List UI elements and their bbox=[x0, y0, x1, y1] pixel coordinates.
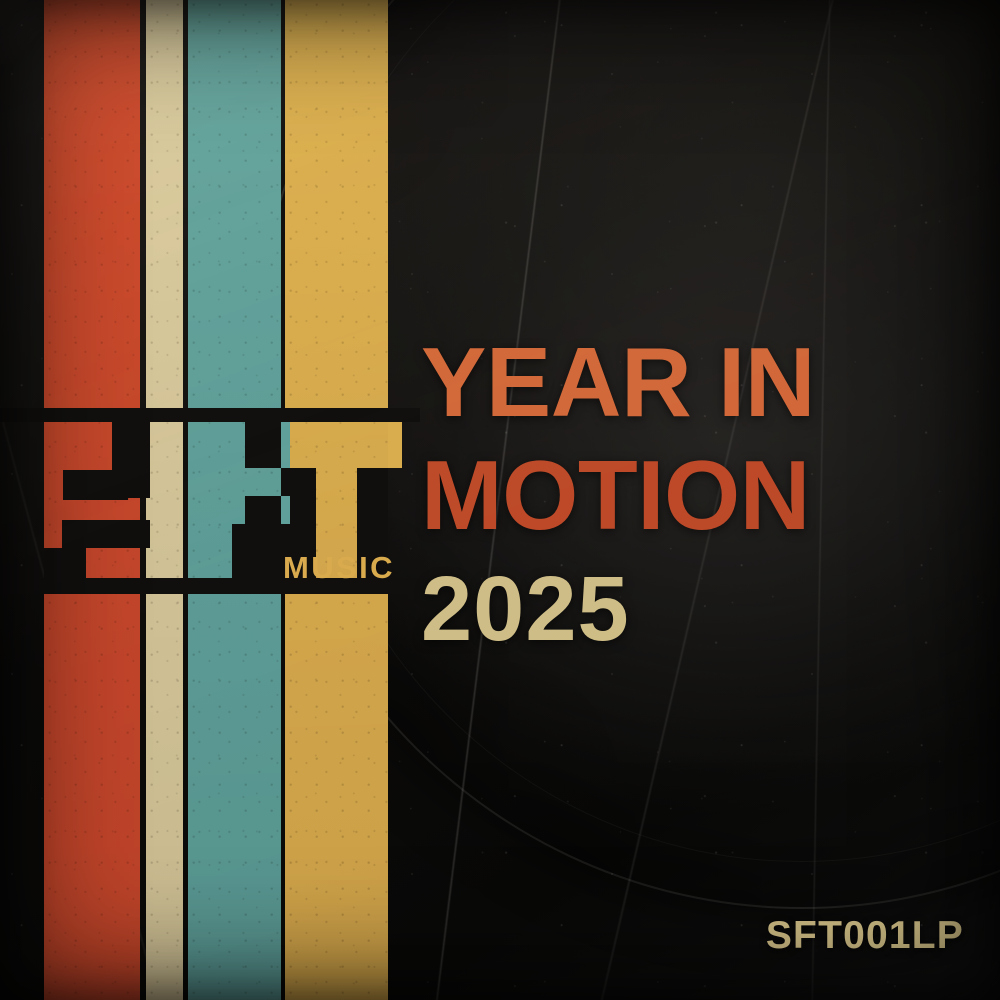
title-year: 2025 bbox=[421, 567, 941, 653]
title-line-1: YEAR IN bbox=[421, 337, 941, 428]
sft-logo-t-crossbar bbox=[388, 422, 402, 468]
album-cover: MUSIC YEAR IN MOTION 2025 SFT001LP bbox=[0, 0, 1000, 1000]
title-line-2: MOTION bbox=[421, 450, 941, 541]
logo-sublabel: MUSIC bbox=[283, 552, 395, 583]
catalog-number: SFT001LP bbox=[766, 914, 964, 958]
sft-logo bbox=[0, 0, 420, 1000]
title-block: YEAR IN MOTION 2025 bbox=[421, 337, 941, 653]
